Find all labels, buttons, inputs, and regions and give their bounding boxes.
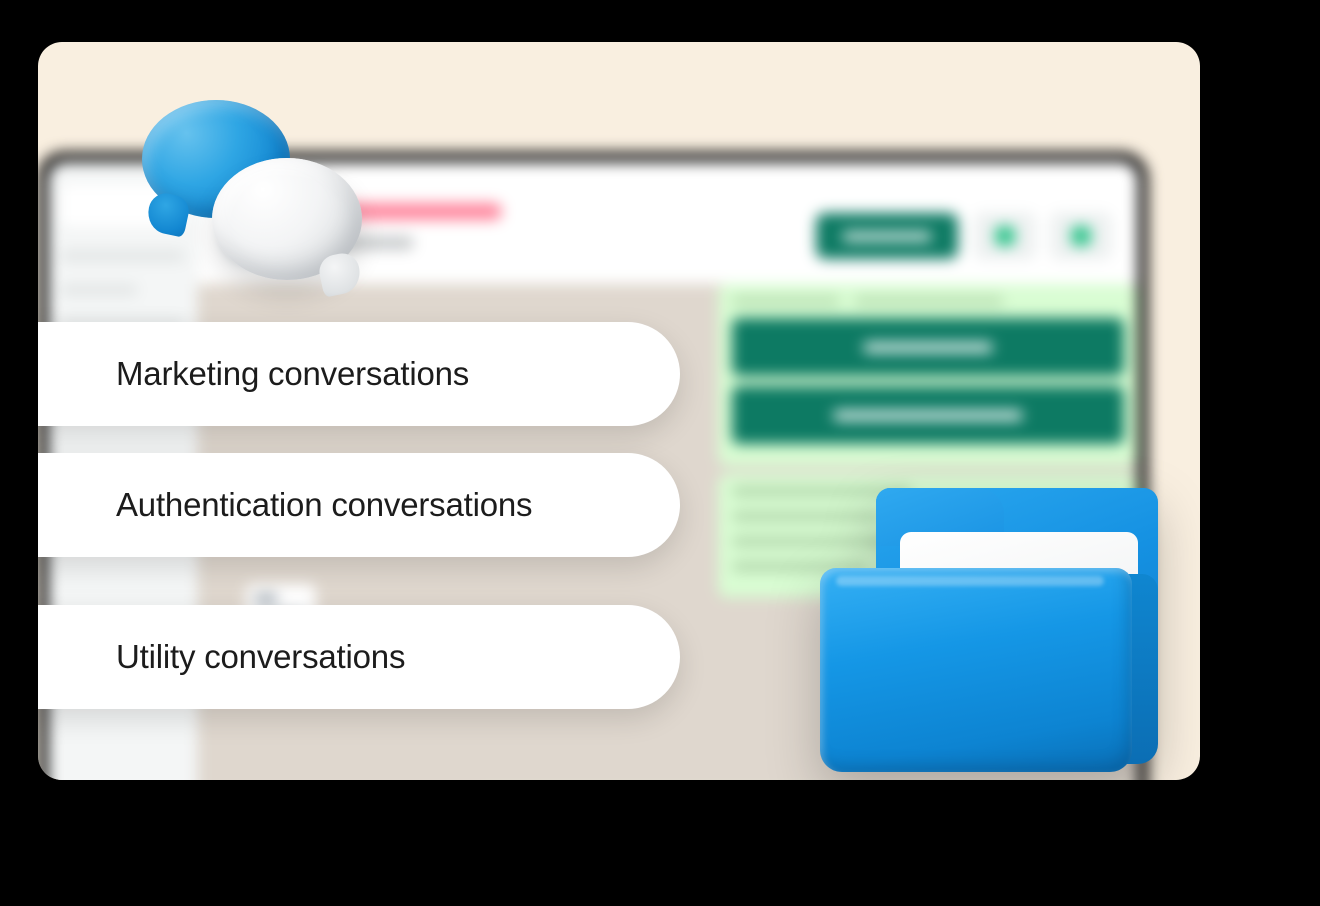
attachment-title <box>254 594 278 603</box>
chat-action-button-label <box>863 342 993 353</box>
pill-label: Utility conversations <box>116 638 405 676</box>
avatar <box>224 210 276 262</box>
pill-label: Authentication conversations <box>116 486 532 524</box>
chat-action-button-label <box>833 410 1023 421</box>
contact-info <box>292 197 800 250</box>
message-meta <box>732 296 840 306</box>
chat-action-button[interactable] <box>732 386 1124 444</box>
refresh-icon <box>995 226 1015 246</box>
pill-authentication-conversations[interactable]: Authentication conversations <box>38 453 680 557</box>
sidebar-list-item[interactable] <box>60 250 185 262</box>
pill-label: Marketing conversations <box>116 355 469 393</box>
search-input[interactable] <box>60 184 185 228</box>
contact-name <box>292 203 502 220</box>
message-line <box>732 536 932 547</box>
message-meta <box>854 296 1004 306</box>
message-bubble <box>718 284 1138 466</box>
status-badge-label <box>842 231 932 242</box>
pill-marketing-conversations[interactable]: Marketing conversations <box>38 322 680 426</box>
status-badge <box>816 213 958 259</box>
screenshot-stage: Marketing conversations Authentication c… <box>0 0 1320 906</box>
topbar-actions <box>974 212 1112 260</box>
contact-status <box>292 236 414 250</box>
chat-action-button[interactable] <box>732 318 1124 376</box>
pill-utility-conversations[interactable]: Utility conversations <box>38 605 680 709</box>
message-bubble <box>718 474 1138 598</box>
hero-card: Marketing conversations Authentication c… <box>38 42 1200 780</box>
refresh-button[interactable] <box>974 212 1036 260</box>
message-line <box>732 511 882 522</box>
more-button[interactable] <box>1050 212 1112 260</box>
message-line <box>732 561 867 572</box>
more-icon <box>1071 226 1091 246</box>
conversation-topbar <box>198 162 1138 284</box>
sidebar-list-item[interactable] <box>60 284 138 296</box>
message-line <box>732 486 912 497</box>
